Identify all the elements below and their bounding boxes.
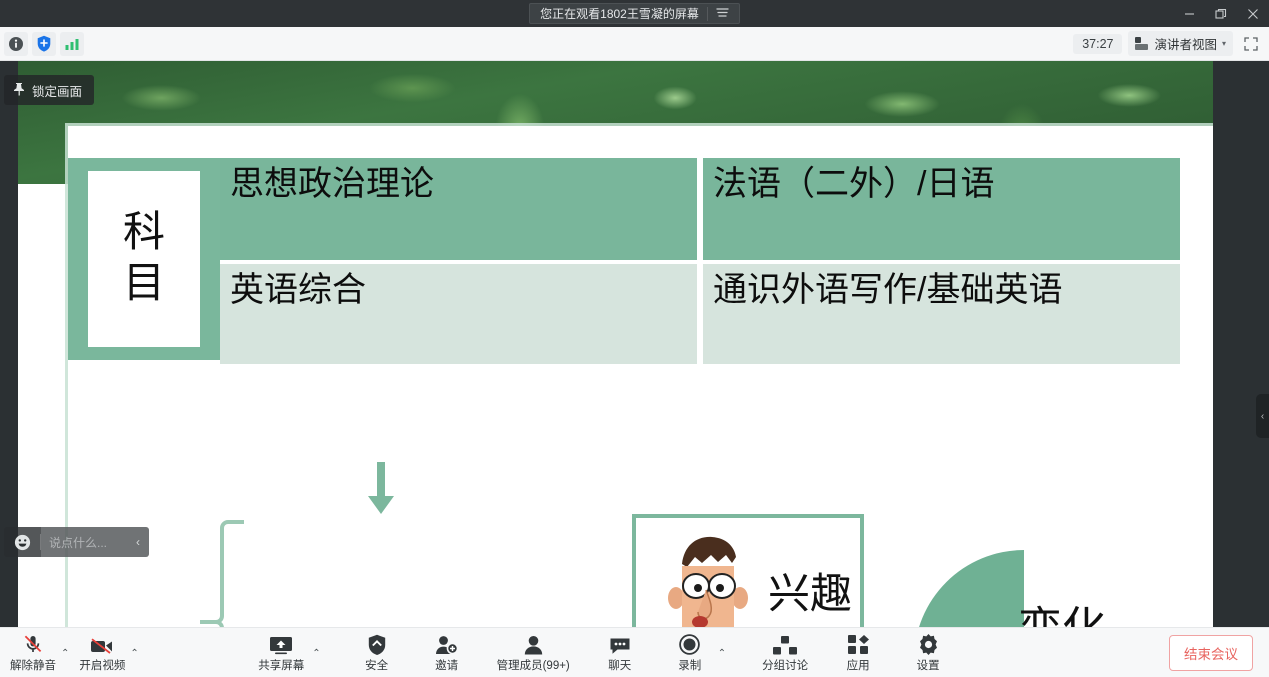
breakout-rooms-button[interactable]: 分组讨论 xyxy=(760,633,810,673)
toolbar-right: 37:27 演讲者视图 ▾ xyxy=(1073,31,1269,56)
lock-screen-label: 锁定画面 xyxy=(32,81,82,100)
share-screen-label: 共享屏幕 xyxy=(258,657,304,673)
chat-bubble-icon xyxy=(609,633,631,655)
view-mode-label: 演讲者视图 xyxy=(1154,34,1217,53)
info-icon[interactable] xyxy=(4,32,28,56)
record-icon xyxy=(679,633,700,655)
share-notice-text: 您正在观看1802王雪凝的屏幕 xyxy=(532,5,707,22)
pie-chart-label: 变化 xyxy=(1018,592,1106,627)
shared-screen-stage[interactable]: 科 目 思想政治理论 法语（二外）/日语 xyxy=(0,61,1269,627)
participants-icon xyxy=(523,633,544,655)
chat-label: 聊天 xyxy=(608,657,631,673)
floating-chat-bar[interactable]: 说点什么... ‹ xyxy=(4,527,149,557)
breakout-rooms-label: 分组讨论 xyxy=(762,657,808,673)
table-row: 科 目 思想政治理论 法语（二外）/日语 xyxy=(68,158,1180,364)
table-cell-政治: 思想政治理论 xyxy=(220,158,697,260)
shield-icon xyxy=(367,633,387,655)
manage-participants-button[interactable]: 管理成员(99+) xyxy=(495,633,572,673)
subject-header-box: 科 目 xyxy=(88,171,200,347)
manage-participants-label: 管理成员(99+) xyxy=(497,657,570,673)
meeting-timer: 37:27 xyxy=(1073,34,1122,54)
title-bar: 您正在观看1802王雪凝的屏幕 xyxy=(0,0,1269,27)
table-cell-英语综合: 英语综合 xyxy=(220,264,697,364)
teacher-cartoon-image: 兴趣 xyxy=(632,514,864,627)
controls-center: 共享屏幕 ⌃ 安全 邀请 管理成员(99+) xyxy=(256,633,950,673)
video-options-caret[interactable]: ⌃ xyxy=(130,648,138,659)
table-cell-二外: 法语（二外）/日语 xyxy=(703,158,1180,260)
smiley-icon[interactable] xyxy=(4,534,40,551)
score-lines: 英美文学 50分 语言学 50分 英美文化 50分 （或只有文学和 xyxy=(252,516,552,627)
view-mode-selector[interactable]: 演讲者视图 ▾ xyxy=(1128,31,1233,56)
meeting-controls-bar: 解除静音 ⌃ 开启视频 ⌃ 共享屏幕 ⌃ xyxy=(0,627,1269,677)
security-button[interactable]: 安全 xyxy=(355,633,399,673)
record-button[interactable]: 录制 xyxy=(668,633,712,673)
settings-gear-icon xyxy=(918,633,939,655)
unmute-button[interactable]: 解除静音 xyxy=(8,633,58,673)
controls-left: 解除静音 ⌃ 开启视频 ⌃ xyxy=(0,633,147,673)
security-shield-icon[interactable] xyxy=(32,32,56,56)
settings-button[interactable]: 设置 xyxy=(906,633,950,673)
subjects-table: 科 目 思想政治理论 法语（二外）/日语 xyxy=(68,158,1180,364)
shared-slide: 科 目 思想政治理论 法语（二外）/日语 xyxy=(18,61,1213,627)
apps-icon xyxy=(848,633,869,655)
subject-header-cell: 科 目 xyxy=(68,158,220,360)
settings-label: 设置 xyxy=(917,657,940,673)
subject-char-1: 科 xyxy=(123,208,165,259)
speaker-view-icon xyxy=(1135,37,1149,50)
breakout-rooms-icon xyxy=(773,633,797,655)
chat-button[interactable]: 聊天 xyxy=(598,633,642,673)
chevron-down-icon: ▾ xyxy=(1222,39,1226,48)
end-meeting-button[interactable]: 结束会议 xyxy=(1169,635,1253,671)
minimize-button[interactable] xyxy=(1173,0,1205,27)
invite-person-icon xyxy=(435,633,458,655)
share-options-caret[interactable]: ⌃ xyxy=(312,648,320,659)
meeting-window: 您正在观看1802王雪凝的屏幕 xyxy=(0,0,1269,677)
record-label: 录制 xyxy=(678,657,701,673)
network-signal-icon[interactable] xyxy=(60,32,84,56)
window-controls xyxy=(1173,0,1269,27)
audio-options-caret[interactable]: ⌃ xyxy=(61,648,69,659)
fullscreen-button[interactable] xyxy=(1239,32,1263,56)
chat-collapse-button[interactable]: ‹ xyxy=(127,527,149,557)
close-button[interactable] xyxy=(1237,0,1269,27)
restore-button[interactable] xyxy=(1205,0,1237,27)
top-toolbar: 37:27 演讲者视图 ▾ xyxy=(0,27,1269,61)
chat-input[interactable]: 说点什么... xyxy=(41,527,127,557)
hamburger-icon[interactable] xyxy=(708,7,737,21)
share-screen-icon xyxy=(269,633,293,655)
camera-muted-icon xyxy=(90,633,114,655)
controls-right: 结束会议 xyxy=(1169,635,1269,671)
apps-button[interactable]: 应用 xyxy=(836,633,880,673)
toolbar-left-icons xyxy=(0,32,84,56)
lock-screen-button[interactable]: 锁定画面 xyxy=(4,75,94,105)
record-options-caret[interactable]: ⌃ xyxy=(718,648,726,659)
invite-label: 邀请 xyxy=(435,657,458,673)
start-video-button[interactable]: 开启视频 xyxy=(77,633,127,673)
security-label: 安全 xyxy=(365,657,388,673)
subject-char-2: 目 xyxy=(123,259,165,310)
left-brace-icon xyxy=(198,518,250,627)
unmute-label: 解除静音 xyxy=(10,657,56,673)
pin-icon xyxy=(13,82,25,99)
start-video-label: 开启视频 xyxy=(79,657,125,673)
picture-label: 兴趣 xyxy=(768,560,852,621)
microphone-muted-icon xyxy=(22,633,44,655)
share-notice-pill[interactable]: 您正在观看1802王雪凝的屏幕 xyxy=(529,3,740,24)
apps-label: 应用 xyxy=(847,657,870,673)
invite-button[interactable]: 邀请 xyxy=(425,633,469,673)
share-screen-button[interactable]: 共享屏幕 xyxy=(256,633,306,673)
table-cell-写作: 通识外语写作/基础英语 xyxy=(703,264,1180,364)
down-arrow-icon xyxy=(364,462,398,514)
panel-collapse-tab[interactable]: ‹ xyxy=(1256,394,1269,438)
slide-content-panel: 科 目 思想政治理论 法语（二外）/日语 xyxy=(68,126,1213,627)
